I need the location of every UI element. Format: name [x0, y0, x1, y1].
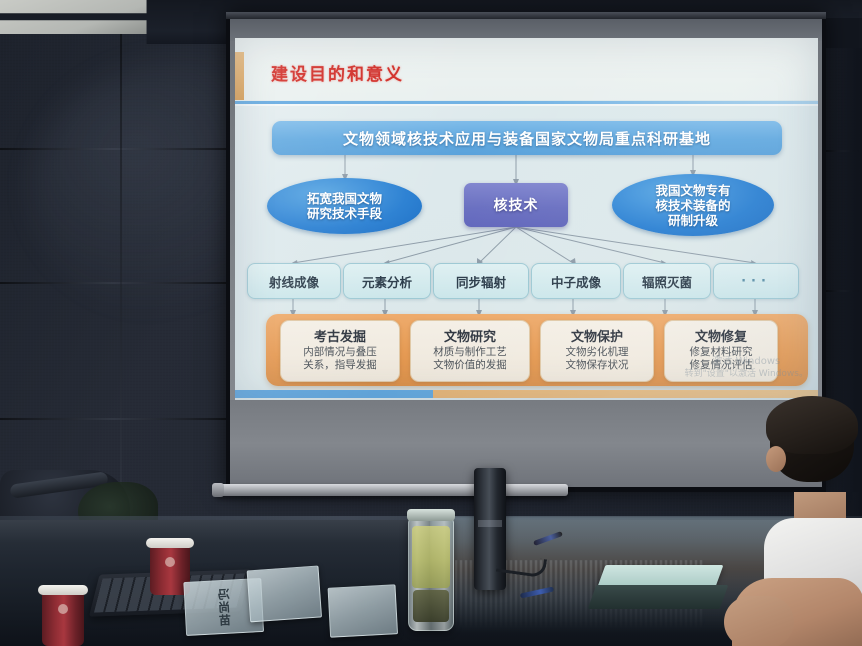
tech-node-2-label: 同步辐射 — [456, 272, 506, 291]
windows-activation-watermark: 激活 Windows 转到"设置"以激活 Windows。 — [685, 356, 808, 380]
application-card-0-title: 考古发掘 — [314, 330, 366, 346]
wall-seam — [0, 282, 226, 284]
cup-lid — [146, 538, 194, 548]
name-plate-face — [328, 584, 399, 637]
application-card-0: 考古发掘 内部情况与叠压 关系，指导发掘 — [280, 320, 400, 382]
name-plate — [247, 566, 320, 621]
tech-node-3-label: 中子成像 — [551, 272, 601, 291]
application-card-2-title: 文物保护 — [571, 330, 623, 346]
cup-lid — [38, 585, 88, 595]
goal-left-line-2: 研究技术手段 — [307, 206, 382, 221]
tumbler-tea — [412, 526, 450, 588]
person-ear — [766, 446, 786, 472]
diagram-goal-right: 我国文物专有 核技术装备的 研制升级 — [612, 174, 774, 236]
tumbler-cap — [407, 509, 455, 521]
wall-seam-vertical — [120, 30, 122, 520]
application-card-0-line-1: 内部情况与叠压 — [303, 346, 377, 359]
application-card-1-line-1: 材质与制作工艺 — [433, 346, 507, 359]
tech-node-1-label: 元素分析 — [362, 272, 412, 291]
diagram-root-node: 文物领域核技术应用与装备国家文物局重点科研基地 — [272, 121, 782, 155]
diagram-core-node: 核技术 — [464, 183, 568, 227]
person-hair — [766, 396, 858, 454]
projection-screen-rail — [226, 12, 826, 19]
goal-right-line-3: 研制升级 — [668, 213, 718, 228]
application-card-2: 文物保护 文物劣化机理 文物保存状况 — [540, 320, 654, 382]
glass-tea-tumbler — [408, 517, 454, 631]
application-card-1-line-2: 文物价值的发掘 — [433, 359, 507, 372]
application-card-1: 文物研究 材质与制作工艺 文物价值的发掘 — [410, 320, 530, 382]
application-card-2-line-1: 文物劣化机理 — [566, 346, 629, 359]
goal-right-line-2: 核技术装备的 — [655, 198, 730, 213]
application-card-2-line-2: 文物保存状况 — [566, 359, 629, 372]
seated-person — [742, 400, 862, 646]
projection-screen-lower-area — [230, 400, 822, 487]
person-hand — [724, 596, 794, 646]
paper-cup — [42, 592, 84, 646]
tech-node-4: 辐照灭菌 — [623, 263, 711, 299]
title-accent-bar — [235, 52, 244, 100]
goal-right-line-1: 我国文物专有 — [655, 183, 730, 198]
tech-node-0: 射线成像 — [247, 263, 341, 299]
projection-screen-roller — [216, 484, 568, 496]
wall-seam — [0, 418, 226, 420]
tech-node-5: ··· — [713, 263, 799, 299]
name-plate-label: 冯尚苗 — [214, 587, 233, 627]
projection-screen-roller-cap — [212, 483, 224, 497]
tech-node-1: 元素分析 — [343, 263, 431, 299]
tech-node-3: 中子成像 — [531, 263, 621, 299]
tech-node-5-label: ··· — [741, 274, 771, 289]
application-card-1-title: 文物研究 — [444, 330, 496, 346]
goal-left-line-1: 拓宽我国文物 — [307, 191, 382, 206]
watermark-line-1: 激活 Windows — [685, 356, 808, 368]
title-divider-highlight — [235, 104, 818, 106]
slide-title: 建设目的和意义 — [271, 60, 404, 85]
name-plate-face — [247, 566, 322, 623]
tech-node-2: 同步辐射 — [433, 263, 529, 299]
thermos-band — [478, 520, 502, 527]
tumbler-tea-leaves — [413, 590, 449, 622]
conference-room-photo: 建设目的和意义 文物 — [0, 0, 862, 646]
tech-node-4-label: 辐照灭菌 — [642, 272, 692, 291]
presentation-slide: 建设目的和意义 文物 — [235, 38, 818, 400]
tech-node-0-label: 射线成像 — [269, 272, 319, 291]
name-plate — [328, 584, 396, 635]
diagram-goal-left: 拓宽我国文物 研究技术手段 — [267, 178, 422, 234]
core-node-label: 核技术 — [494, 195, 539, 215]
application-card-3-title: 文物修复 — [695, 330, 747, 346]
root-node-label: 文物领域核技术应用与装备国家文物局重点科研基地 — [343, 128, 711, 149]
wall-seam — [0, 148, 226, 150]
binder — [588, 585, 729, 609]
application-card-0-line-2: 关系，指导发掘 — [303, 359, 377, 372]
cup-logo — [58, 604, 68, 614]
slide-bottom-strip — [235, 390, 818, 398]
cup-logo — [165, 557, 175, 567]
watermark-line-2: 转到"设置"以激活 Windows。 — [685, 368, 808, 380]
